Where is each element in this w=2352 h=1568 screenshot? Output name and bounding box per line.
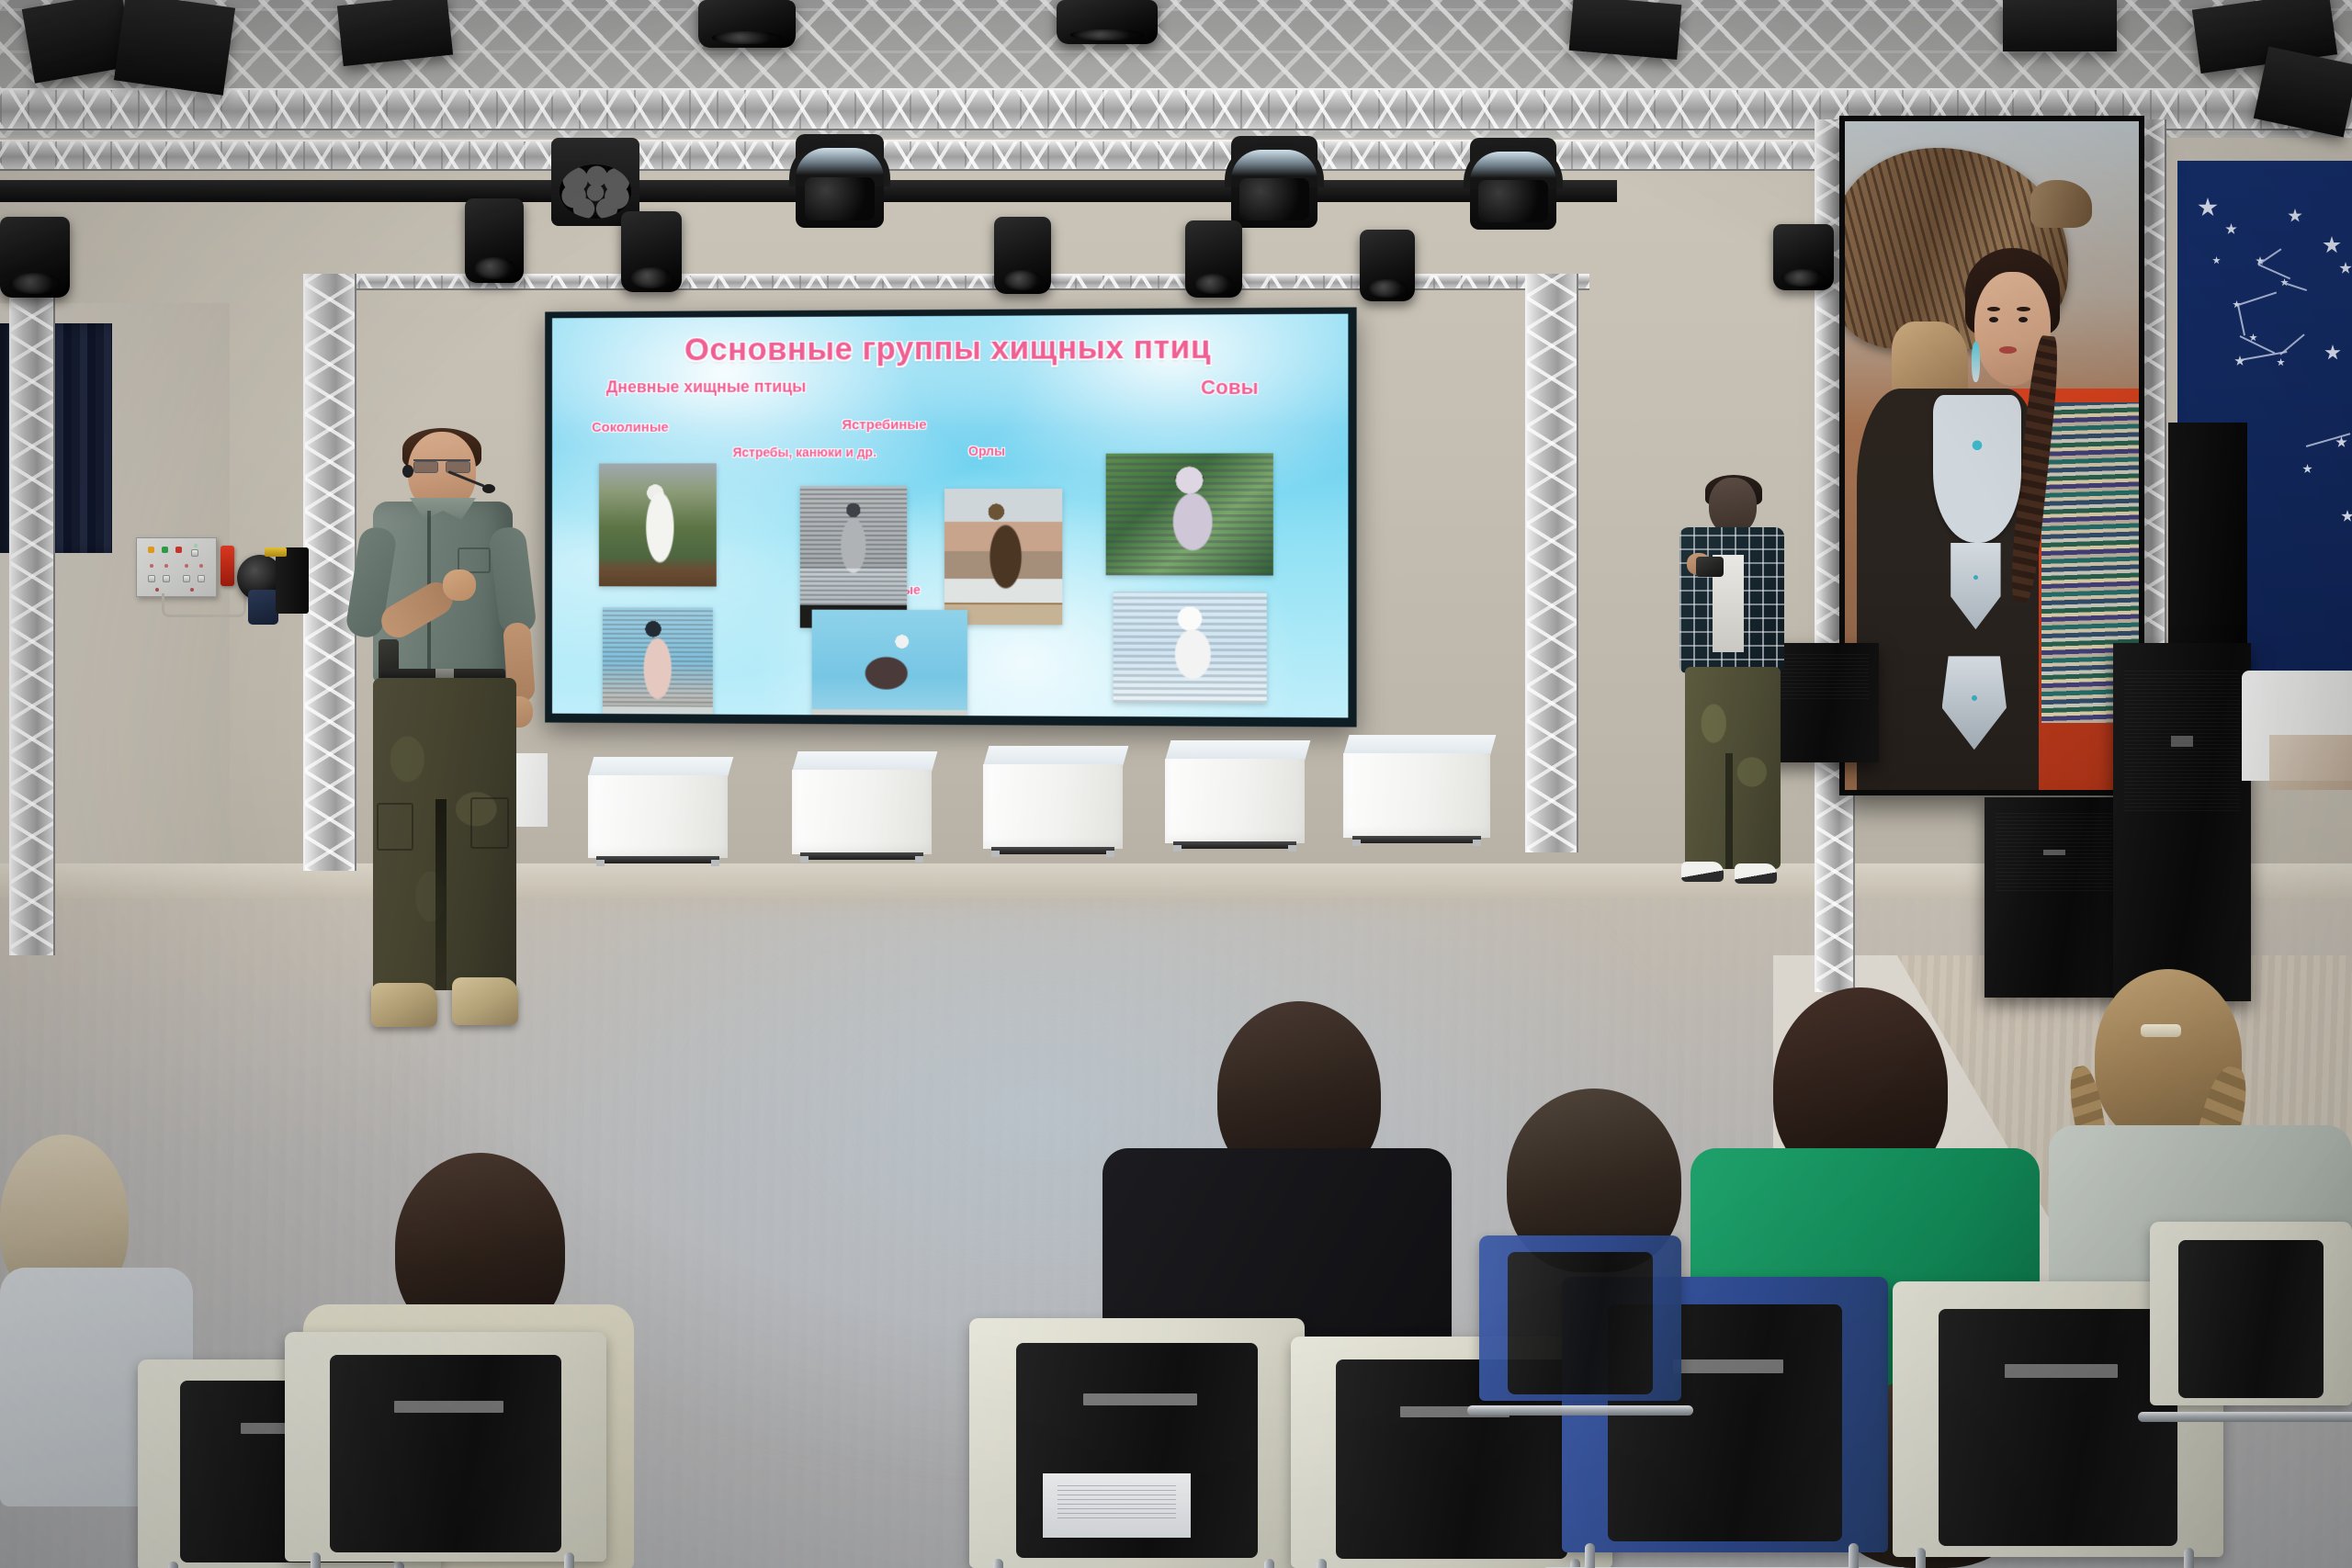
ottoman-seat[interactable] — [792, 751, 932, 860]
seated-person-legs — [2269, 735, 2352, 790]
truss-tower-right — [1525, 274, 1578, 852]
blade-shutter-light-icon — [1569, 0, 1682, 60]
line-array-speaker — [2168, 423, 2247, 652]
panel-button[interactable] — [148, 575, 155, 582]
eagle-owl-photo — [1106, 453, 1273, 575]
camouflage-trousers — [1685, 667, 1781, 869]
moving-head-light-icon — [1231, 136, 1317, 228]
constellation-line — [2279, 333, 2304, 355]
golden-eagle-photo — [944, 489, 1062, 625]
star-icon — [2198, 197, 2218, 218]
indicator-dot — [185, 564, 188, 568]
truss-tower-far-left — [9, 276, 55, 955]
truss-beam-mid — [0, 140, 1911, 171]
trouser-leg-gap — [435, 799, 447, 990]
indicator-dot — [150, 564, 153, 568]
gyrfalcon-photo — [599, 463, 717, 586]
mobile-phone[interactable] — [1696, 557, 1724, 577]
indicator-lamp-red — [175, 547, 182, 553]
hair-clip — [2141, 1024, 2181, 1037]
indicator-lamp-green — [162, 547, 168, 553]
attendee-head — [1709, 478, 1757, 535]
osprey-photo — [812, 610, 967, 718]
par-can-light-icon — [1360, 230, 1415, 301]
indicator-dot — [199, 564, 203, 568]
moving-head-light-icon — [1470, 138, 1556, 230]
presenter-left-hand — [443, 570, 476, 601]
audience-chair[interactable] — [2150, 1222, 2352, 1405]
silver-necklace-graphic — [1933, 395, 2021, 542]
star-icon — [2277, 358, 2285, 367]
blade-shutter-light-icon — [114, 0, 235, 96]
led-display-content — [1845, 121, 2139, 790]
slide-label-eagles: Орлы — [968, 444, 1005, 458]
indicator-lamp-amber — [148, 547, 154, 553]
hoist-frame — [276, 547, 309, 614]
par-can-light-icon — [994, 217, 1051, 294]
slide-label-owls: Совы — [1201, 376, 1259, 400]
hoist-warning-tag — [265, 547, 287, 557]
blade-shutter-light-icon — [2003, 0, 2117, 51]
star-icon — [2341, 510, 2352, 523]
constellation-line — [2284, 282, 2307, 291]
led-display-panel[interactable] — [1839, 116, 2144, 795]
ottoman-seat[interactable] — [588, 757, 728, 863]
winch-hoist — [237, 551, 307, 619]
star-icon — [2212, 256, 2221, 265]
slide-label-hawk-family: Ястребиные — [842, 417, 926, 433]
moving-head-light-icon — [796, 134, 884, 228]
audience-chair[interactable] — [285, 1332, 606, 1562]
presenter-boot-left — [371, 983, 437, 1027]
presentation-slide: Основные группы хищных птиц Дневные хищн… — [552, 314, 1348, 718]
slide-label-diurnal: Дневные хищные птицы — [606, 378, 807, 398]
indicator-lamp-small — [194, 544, 198, 547]
slide-title: Основные группы хищных птиц — [552, 329, 1348, 369]
cargo-pocket — [470, 797, 509, 849]
star-icon — [2339, 262, 2352, 275]
star-icon — [2323, 236, 2341, 254]
star-icon — [2324, 344, 2341, 361]
par-can-light-icon — [1773, 224, 1834, 290]
ottoman-seat[interactable] — [983, 746, 1123, 854]
panel-button[interactable] — [198, 575, 205, 582]
constellation-line — [2238, 291, 2277, 305]
star-icon — [2288, 209, 2302, 223]
hoist-motor — [248, 590, 278, 625]
panel-button[interactable] — [163, 575, 170, 582]
constellation-line — [2237, 305, 2245, 336]
audience-chair[interactable] — [969, 1318, 1305, 1568]
indicator-dot — [190, 588, 194, 592]
constellation-line — [2258, 264, 2291, 279]
ottoman-seat[interactable] — [1343, 735, 1490, 843]
conduit-pipe — [162, 593, 246, 617]
ottoman-seat[interactable] — [1165, 740, 1305, 849]
peregrine-falcon-photo — [603, 607, 713, 717]
microphone-capsule — [482, 484, 495, 493]
stage-speaker-tall — [2113, 643, 2251, 1001]
standing-attendee — [1665, 478, 1803, 900]
room-scene: Основные группы хищных птиц Дневные хищн… — [0, 0, 2352, 1568]
headset-earpiece — [402, 465, 413, 478]
presenter-boot-right — [452, 977, 518, 1025]
star-icon — [2225, 223, 2237, 235]
star-icon — [2302, 464, 2312, 474]
panel-button[interactable] — [183, 575, 190, 582]
constellation-line — [2257, 248, 2281, 265]
cargo-pocket — [377, 803, 413, 851]
sneaker-left — [1681, 862, 1724, 882]
trouser-leg-gap — [1725, 753, 1733, 869]
indicator-dot — [164, 564, 168, 568]
earring-graphic — [1972, 342, 1981, 382]
goshawk-photo — [800, 486, 907, 628]
par-can-light-icon — [621, 211, 682, 292]
par-can-light-icon — [1057, 0, 1158, 44]
par-can-light-icon — [0, 217, 70, 298]
emergency-stop-button[interactable] — [220, 546, 234, 586]
stage-speaker-lower — [1984, 797, 2124, 998]
panel-switch[interactable] — [191, 549, 198, 557]
projection-screen[interactable]: Основные группы хищных птиц Дневные хищн… — [545, 307, 1356, 727]
slide-label-falcons: Соколиные — [592, 420, 669, 435]
par-can-light-icon — [1185, 220, 1242, 298]
constellation-line — [2240, 335, 2276, 354]
electrical-control-panel[interactable] — [136, 537, 217, 597]
blade-shutter-light-icon — [337, 0, 453, 66]
indicator-dot — [155, 588, 159, 592]
glasses-icon — [413, 459, 470, 469]
par-can-light-icon — [698, 0, 796, 48]
par-can-light-icon — [465, 198, 524, 283]
sneaker-right — [1735, 863, 1777, 884]
snowy-owl-photo — [1114, 592, 1267, 703]
slide-label-hawks-buzzards: Ястребы, канюки и др. — [733, 445, 876, 459]
audience-chair-blue[interactable] — [1479, 1235, 1681, 1401]
presenter — [340, 432, 551, 1066]
